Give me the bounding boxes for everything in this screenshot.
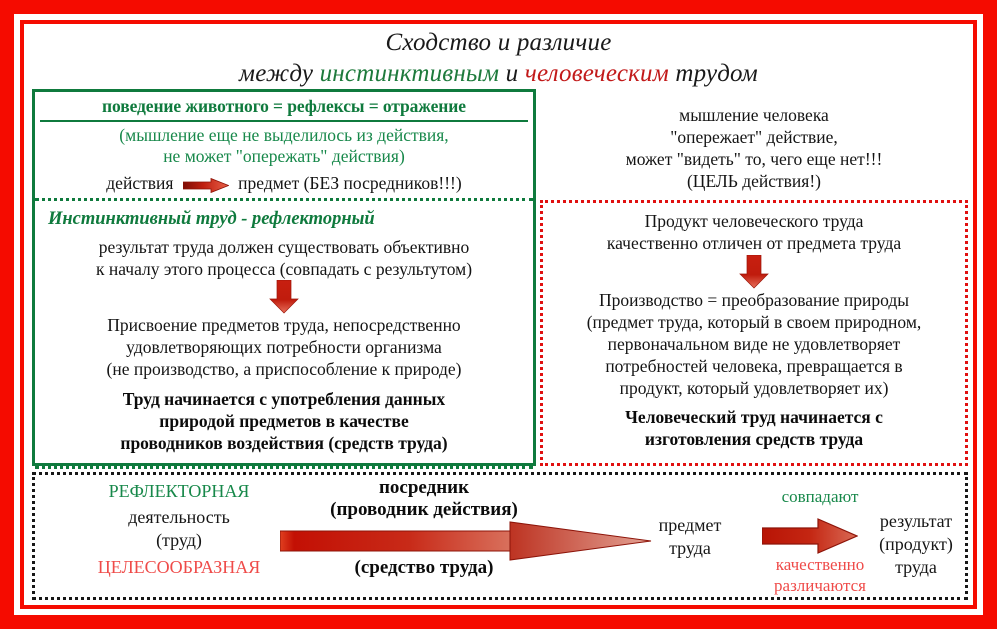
title-word-instinctive: инстинктивным — [320, 60, 500, 87]
right-conclusion-line2: изготовления средств труда — [542, 428, 966, 450]
right-column-dotted-box-top-edge — [540, 200, 968, 203]
left-top-action-after: предмет (БЕЗ посредников!!!) — [238, 173, 462, 193]
left-bottom-para1-line2: к началу этого процесса (совпадать с рез… — [38, 258, 530, 280]
right-bottom-para2-line1: Производство = преобразование природы — [542, 289, 966, 311]
left-top-line-1: (мышление еще не выделилось из действия, — [40, 125, 528, 147]
bottom-match-label: совпадают — [740, 486, 900, 507]
left-bottom-para2-line2: удовлетворяющих потребности организма — [38, 336, 530, 358]
left-top-action-row: действия предмет (БЕЗ посредников!!!) — [40, 172, 528, 194]
right-top-line-4: (ЦЕЛЬ действия!) — [540, 170, 968, 192]
left-bottom-para1-line1: результат труда должен существовать объе… — [38, 236, 530, 258]
bottom-result-line-2: (продукт) — [864, 533, 968, 556]
right-bottom-para2-line4: потребностей человека, превращается в — [542, 355, 966, 377]
left-top-heading-wrap: поведение животного = рефлексы = отражен… — [40, 96, 528, 122]
right-bottom-para2-line5: продукт, который удовлетворяет их) — [542, 377, 966, 399]
slide-root: Сходство и различие между инстинктивным … — [0, 0, 997, 629]
title-word-labour: трудом — [669, 60, 758, 87]
left-conclusion-line1: Труд начинается с употребления данных — [38, 388, 530, 410]
right-conclusion-line1: Человеческий труд начинается с — [542, 406, 966, 428]
bottom-mediator-line-1: посредник — [279, 476, 569, 499]
left-column-divider — [35, 198, 533, 201]
right-top-line-2: "опережает" действие, — [540, 126, 968, 148]
right-top-line-3: может "видеть" то, чего еще нет!!! — [540, 148, 968, 170]
arrow-down-icon — [269, 280, 299, 314]
arrow-right-icon — [183, 176, 229, 191]
arrow-down-icon-right — [739, 255, 769, 289]
left-conclusion-line2: природой предметов в качестве — [38, 410, 530, 432]
bottom-mediator-line-2: (проводник действия) — [254, 498, 594, 521]
left-column-bottom-divider — [35, 466, 533, 469]
left-conclusion-line3: проводников воздействия (средств труда) — [38, 432, 530, 454]
title-line-1: Сходство и различие — [24, 28, 973, 58]
title-word-between: между — [239, 60, 320, 87]
title-word-human: человеческим — [525, 60, 669, 87]
left-bottom-para2-line1: Присвоение предметов труда, непосредстве… — [38, 314, 530, 336]
title-word-and: и — [499, 60, 525, 87]
page-title: Сходство и различие между инстинктивным … — [24, 28, 973, 89]
left-bottom-para2-line3: (не производство, а приспособление к при… — [38, 358, 530, 380]
right-bottom-para2-line3: первоначальном виде не удовлетворяет — [542, 333, 966, 355]
bottom-result-line-1: результат — [864, 510, 968, 533]
left-top-heading: поведение животного = рефлексы = отражен… — [40, 96, 528, 122]
left-top-line-2: не может "опережать" действия) — [40, 146, 528, 168]
right-top-line-1: мышление человека — [540, 104, 968, 126]
right-bottom-para2-line2: (предмет труда, который в своем природно… — [542, 311, 966, 333]
title-line-2: между инстинктивным и человеческим трудо… — [24, 58, 973, 89]
bottom-object-line-1: предмет — [634, 514, 746, 537]
slide-canvas: Сходство и различие между инстинктивным … — [24, 24, 973, 605]
left-bottom-heading: Инстинктивный труд - рефлекторный — [40, 208, 536, 230]
arrow-right-icon-mid — [762, 518, 858, 554]
bottom-result-line-3: труда — [864, 556, 968, 579]
right-bottom-para1-line1: Продукт человеческого труда — [542, 210, 966, 232]
left-top-action-before: действия — [106, 173, 173, 193]
right-bottom-para1-line2: качественно отличен от предмета труда — [542, 232, 966, 254]
bottom-label-labour: (труд) — [64, 529, 294, 551]
bottom-mediator-line-3: (средство труда) — [254, 556, 594, 579]
